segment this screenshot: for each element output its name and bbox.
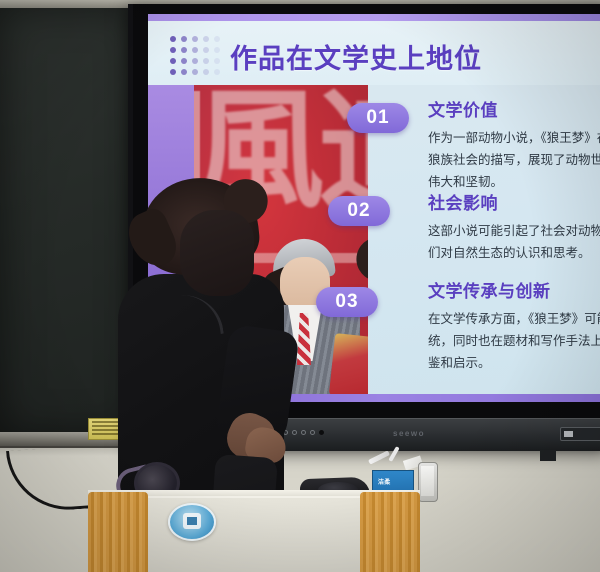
smartphone[interactable]	[418, 462, 438, 502]
section-badge-03: 03	[316, 287, 378, 317]
equipment-sticker	[168, 503, 216, 541]
display-brand-label: seewo	[393, 429, 425, 438]
tissue-box-label: 洁柔	[378, 477, 391, 486]
person-head	[180, 210, 254, 296]
section-block-02: 社会影响 这部小说可能引起了社会对动物生存环境 们对自然生态的认识和思考。	[428, 189, 600, 264]
lectern-wood-right	[360, 492, 420, 572]
slide-top-bar	[148, 14, 600, 21]
flag-decoration	[329, 333, 368, 395]
display-mount-right	[540, 450, 556, 461]
section-heading-03: 文学传承与创新	[428, 277, 600, 302]
slide-title: 作品在文学史上地位	[230, 37, 482, 76]
dot-grid-decoration	[170, 36, 222, 77]
section-line: 作为一部动物小说，《狼王梦》在文	[428, 127, 600, 149]
section-line: 鉴和启示。	[428, 352, 600, 374]
section-badge-01: 01	[347, 103, 409, 133]
section-line: 们对自然生态的认识和思考。	[428, 242, 600, 264]
lectern-wood-left	[88, 492, 148, 572]
section-line: 狼族社会的描写，展现了动物世界的	[428, 149, 600, 171]
section-badge-02: 02	[328, 196, 390, 226]
section-block-03: 文学传承与创新 在文学传承方面，《狼王梦》可能继承了现实 统，同时也在题材和写作…	[428, 277, 600, 374]
classroom-photo: 作品在文学史上地位 風道 01 02 03 文学价值 作为一部动物小说，《狼王梦…	[0, 0, 600, 572]
section-line: 在文学传承方面，《狼王梦》可能继承了现实	[428, 308, 600, 330]
section-heading-02: 社会影响	[428, 189, 600, 214]
display-port[interactable]	[560, 427, 600, 441]
section-block-01: 文学价值 作为一部动物小说，《狼王梦》在文 狼族社会的描写，展现了动物世界的 伟…	[428, 96, 600, 193]
section-line: 这部小说可能引起了社会对动物生存环境	[428, 220, 600, 242]
section-heading-01: 文学价值	[428, 96, 600, 121]
section-line: 统，同时也在题材和写作手法上有所创新，为	[428, 330, 600, 352]
